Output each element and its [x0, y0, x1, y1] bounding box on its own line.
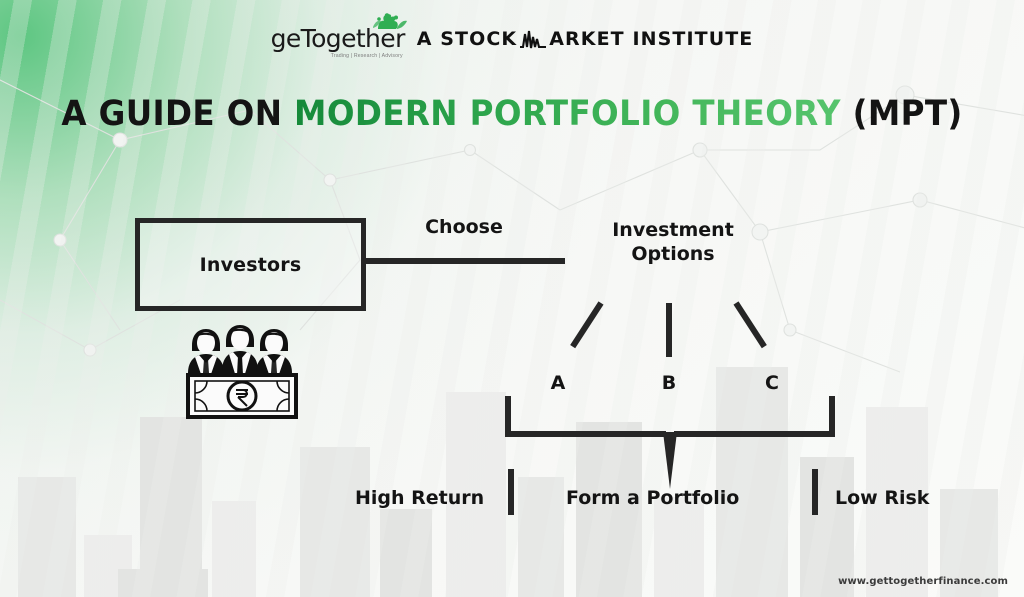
branch-to-option-b: [666, 303, 672, 357]
investment-options-line-2: Options: [631, 243, 714, 265]
branch-to-option-c: [733, 301, 766, 348]
infographic-canvas: geTogether Trading | Research | Advisory…: [0, 0, 1024, 597]
outcome-separator-right: [812, 469, 818, 515]
option-label-a: A: [538, 372, 578, 394]
option-label-c: C: [752, 372, 792, 394]
outcome-low-risk: Low Risk: [835, 487, 929, 509]
investors-box-label: Investors: [200, 254, 302, 276]
footer-website-url[interactable]: www.gettogetherfinance.com: [838, 576, 1008, 587]
mpt-flow-diagram: Investors: [0, 0, 1024, 597]
investment-options-label: Investment Options: [588, 218, 758, 267]
grouping-bracket-with-arrow: [505, 396, 835, 491]
option-label-b: B: [649, 372, 689, 394]
choose-connector-line: [365, 258, 565, 264]
investors-with-rupee-note-illustration: [186, 311, 298, 419]
outcome-separator-left: [508, 469, 514, 515]
outcome-form-a-portfolio: Form a Portfolio: [566, 487, 739, 509]
investment-options-line-1: Investment: [612, 219, 734, 241]
choose-label: Choose: [404, 216, 524, 238]
branch-to-option-a: [570, 301, 603, 348]
outcome-high-return: High Return: [355, 487, 484, 509]
investors-box[interactable]: Investors: [135, 218, 366, 311]
